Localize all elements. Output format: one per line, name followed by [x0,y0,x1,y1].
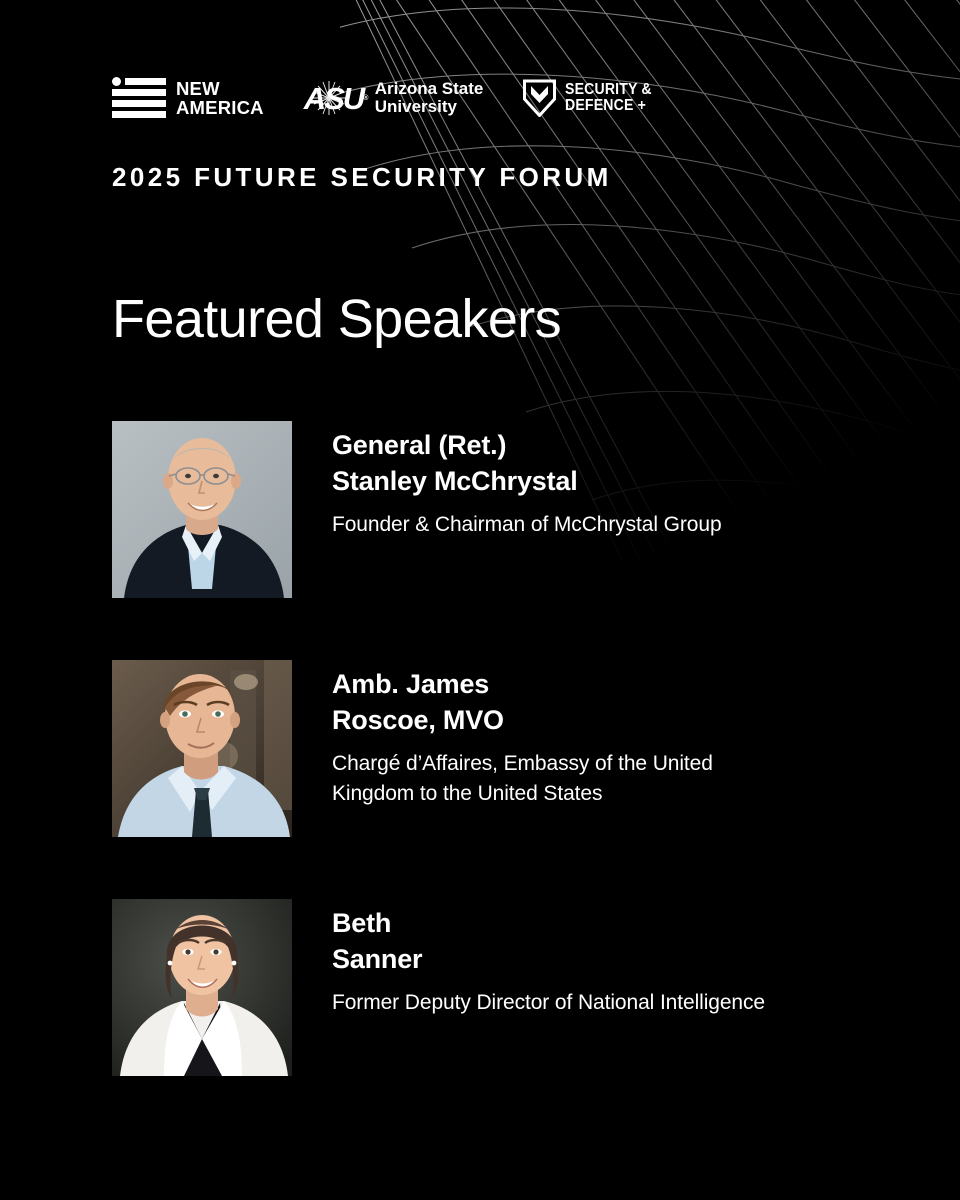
speaker-title: Former Deputy Director of National Intel… [332,988,765,1018]
speaker-name: Amb. James Roscoe, MVO [332,666,713,738]
speaker-info: Amb. James Roscoe, MVO Chargé d’Affaires… [292,660,713,809]
speaker-title-line1: Founder & Chairman of McChrystal Group [332,510,722,540]
speaker-title-line2: Kingdom to the United States [332,779,713,809]
speaker-name-line1: Amb. James [332,666,713,702]
page-title: Featured Speakers [112,288,561,350]
asu-lettering: ASU [304,83,363,114]
portrait-illustration [112,660,292,837]
speaker-card: Amb. James Roscoe, MVO Chargé d’Affaires… [112,660,902,837]
logo-security-defence-wordmark: SECURITY & DEFENCE + [565,82,652,115]
portrait-james-roscoe [112,660,292,837]
flag-bars-icon [112,78,166,118]
flag-bar [125,78,166,85]
flag-bar [112,100,166,107]
speaker-name-line2: Sanner [332,941,765,977]
logo-arizona-state-university: ASU® Arizona State University [304,75,484,121]
partner-logo-bar: NEW AMERICA [112,72,664,124]
speaker-title: Chargé d’Affaires, Embassy of the United… [332,749,713,809]
asu-sunburst-icon: ASU® [304,83,366,114]
flag-bar [112,89,166,96]
logo-new-america-line2: AMERICA [176,98,264,117]
logo-new-america-wordmark: NEW AMERICA [176,79,264,117]
flag-bar [112,111,166,118]
logo-new-america-line1: NEW [176,79,264,98]
speaker-list: General (Ret.) Stanley McChrystal Founde… [112,421,902,1138]
logo-security-defence-line1: SECURITY & [565,82,652,99]
logo-asu-wordmark: Arizona State University [375,80,484,116]
speaker-name: Beth Sanner [332,905,765,977]
event-title: 2025 FUTURE SECURITY FORUM [112,162,612,193]
speaker-name-line2: Stanley McChrystal [332,463,722,499]
speaker-card: General (Ret.) Stanley McChrystal Founde… [112,421,902,598]
featured-speakers-poster: NEW AMERICA [0,0,960,1200]
speaker-name-line1: Beth [332,905,765,941]
speaker-info: Beth Sanner Former Deputy Director of Na… [292,899,765,1018]
speaker-title: Founder & Chairman of McChrystal Group [332,510,722,540]
logo-asu-line2: University [375,98,484,116]
logo-security-defence-line2: DEFENCE + [565,98,652,115]
speaker-info: General (Ret.) Stanley McChrystal Founde… [292,421,722,540]
speaker-name-line2: Roscoe, MVO [332,702,713,738]
shield-chevron-icon [523,79,556,117]
portrait-illustration [112,899,292,1076]
speaker-title-line1: Former Deputy Director of National Intel… [332,988,765,1018]
logo-asu-line1: Arizona State [375,80,484,98]
speaker-title-line1: Chargé d’Affaires, Embassy of the United [332,749,713,779]
portrait-beth-sanner [112,899,292,1076]
portrait-stanley-mcchrystal [112,421,292,598]
logo-new-america: NEW AMERICA [112,75,264,121]
flag-dot [112,77,121,86]
portrait-illustration [112,421,292,598]
logo-security-and-defence: SECURITY & DEFENCE + [523,75,664,121]
speaker-name-line1: General (Ret.) [332,427,722,463]
speaker-card: Beth Sanner Former Deputy Director of Na… [112,899,902,1076]
speaker-name: General (Ret.) Stanley McChrystal [332,427,722,499]
asu-trademark: ® [363,83,368,114]
